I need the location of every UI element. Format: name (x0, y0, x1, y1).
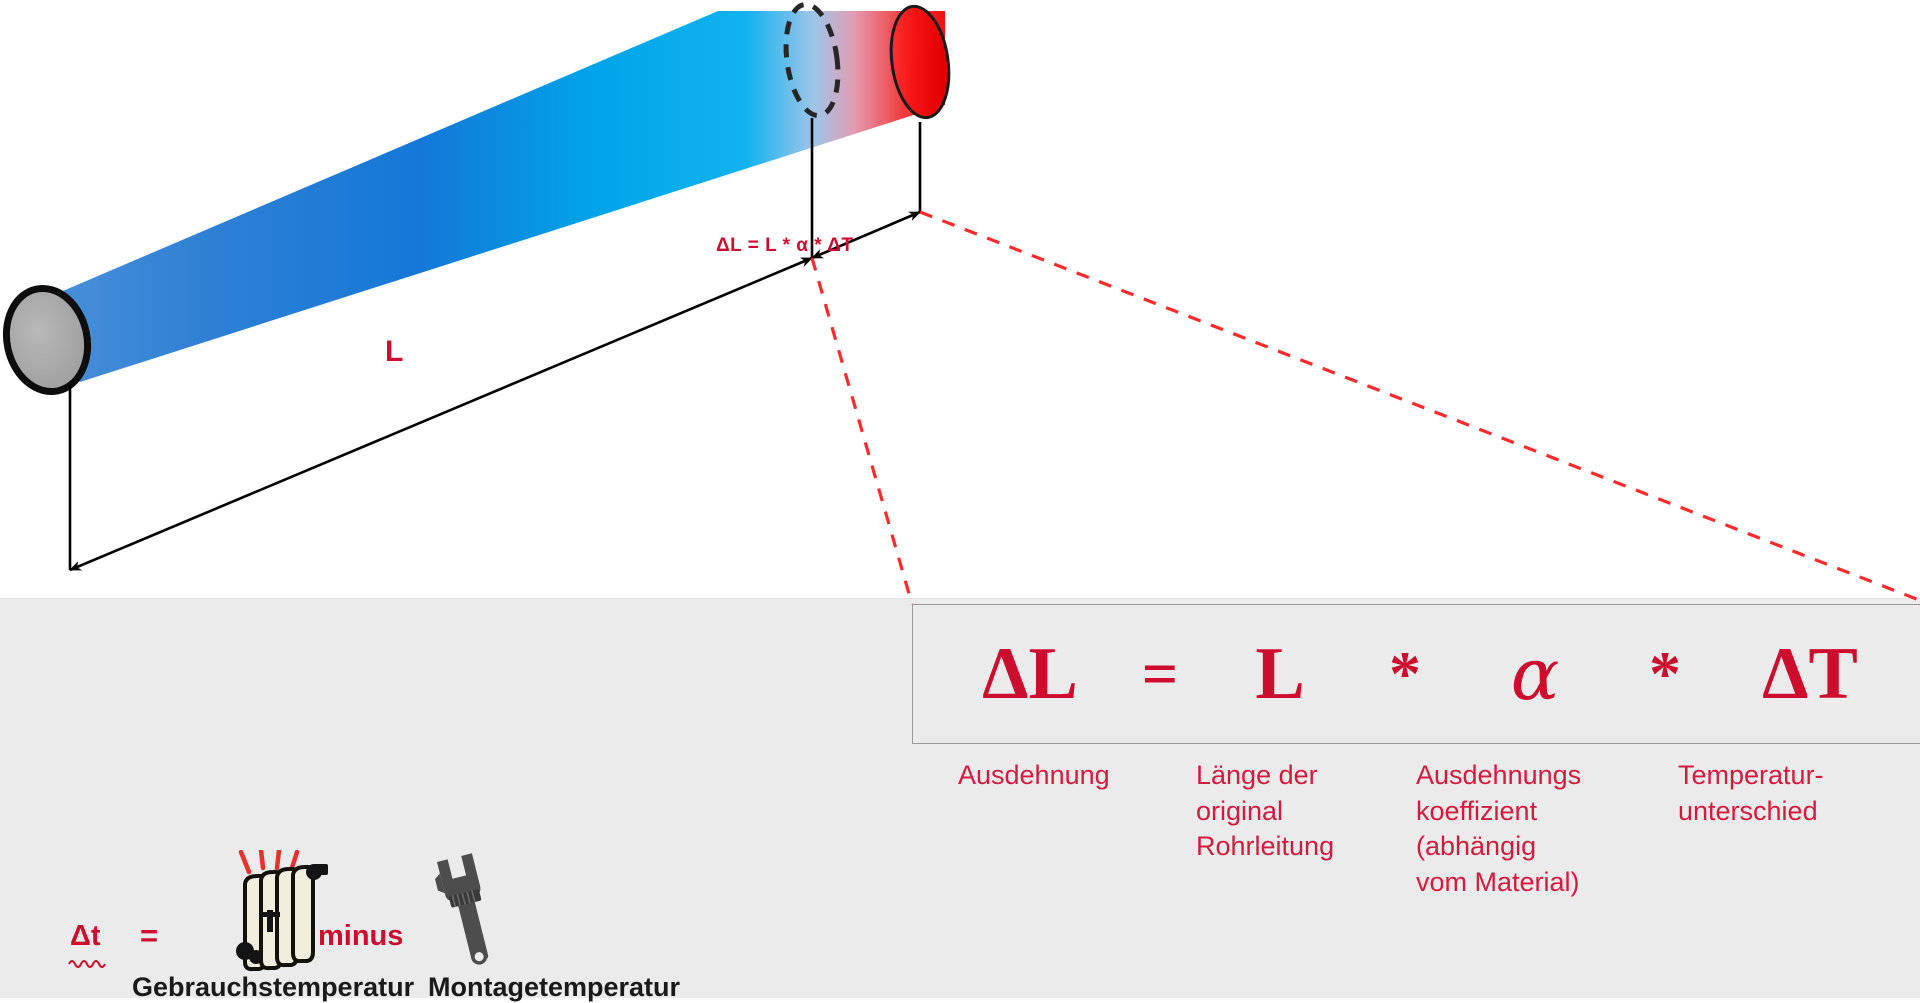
formula-description-delta-t: Temperatur- unterschied (1678, 758, 1908, 829)
delta-t-expression: Δt = (60, 860, 740, 997)
callout-line-bottom (812, 258, 912, 604)
delta-t-equals: = (140, 918, 158, 954)
delta-l-formula-label: ΔL = L * α * ΔT (716, 235, 853, 257)
diagram-canvas: ΔL = L * α * ΔT L ΔL = L * α * ΔT Ausdeh… (0, 0, 1920, 997)
wrench-icon (428, 842, 508, 982)
delta-t-operator: minus (318, 920, 403, 953)
callout-lines (812, 212, 1919, 604)
callout-line-top (920, 212, 1919, 600)
formula-term-alpha: α (1465, 638, 1605, 710)
formula-description-alpha: Ausdehnungs koeffizient (abhängig vom Ma… (1416, 758, 1646, 901)
formula-box: ΔL = L * α * ΔT (912, 604, 1920, 744)
formula-description-length: Länge der original Rohrleitung (1196, 758, 1406, 865)
formula-operator-equals: = (1105, 642, 1215, 706)
squiggly-underline-icon (68, 956, 110, 968)
formula-term-length: L (1215, 637, 1345, 711)
formula-term-delta-l: ΔL (955, 637, 1105, 711)
formula-operator-multiply-2: * (1605, 642, 1725, 706)
caption-montagetemperatur: Montagetemperatur (428, 972, 680, 1003)
formula-operator-multiply-1: * (1345, 642, 1465, 706)
radiator-heat-icon (215, 850, 335, 980)
length-label: L (385, 335, 403, 369)
delta-t-symbol: Δt (70, 920, 101, 953)
formula-description-delta-l: Ausdehnung (958, 758, 1168, 794)
formula-term-delta-t: ΔT (1725, 637, 1895, 711)
pipe-body (44, 11, 945, 382)
caption-gebrauchstemperatur: Gebrauchstemperatur (132, 972, 414, 1003)
